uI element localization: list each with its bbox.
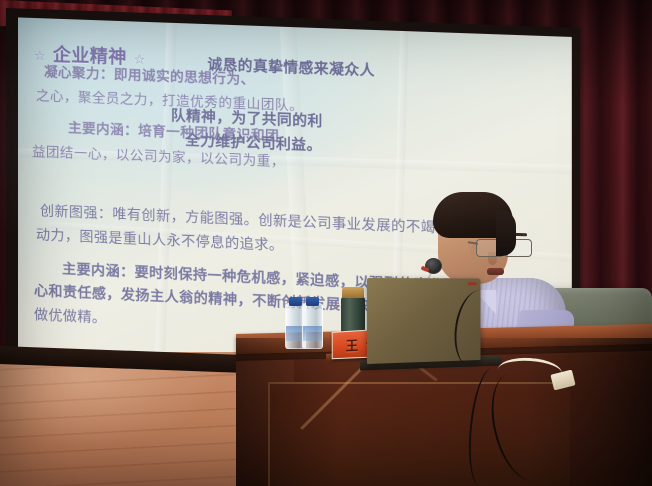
thermos-cap bbox=[342, 287, 364, 298]
star-icon: ☆ bbox=[134, 53, 146, 69]
hair-side bbox=[496, 210, 516, 256]
microphone-icon bbox=[425, 258, 442, 274]
slide-line: 动力，图强是重山人永不停息的追求。 bbox=[36, 228, 284, 253]
slide-line: 之心，聚全员之力，打造优秀的重山团队。 bbox=[36, 90, 303, 114]
bottle-cap bbox=[289, 297, 302, 306]
water-bottle bbox=[302, 303, 323, 349]
presentation-photo-scene: ☆ 企业精神 ☆ 凝心聚力：即用诚实的思想行为、 之心，聚全员之力，打造优秀的重… bbox=[0, 0, 652, 486]
mouth bbox=[487, 268, 504, 275]
bottle-label bbox=[303, 326, 322, 341]
star-icon: ☆ bbox=[34, 49, 46, 64]
nameplate-char-1: 王 bbox=[346, 335, 358, 354]
bottle-cap bbox=[306, 297, 319, 306]
laptop bbox=[367, 278, 480, 364]
slide-line: 做优做精。 bbox=[34, 308, 106, 325]
